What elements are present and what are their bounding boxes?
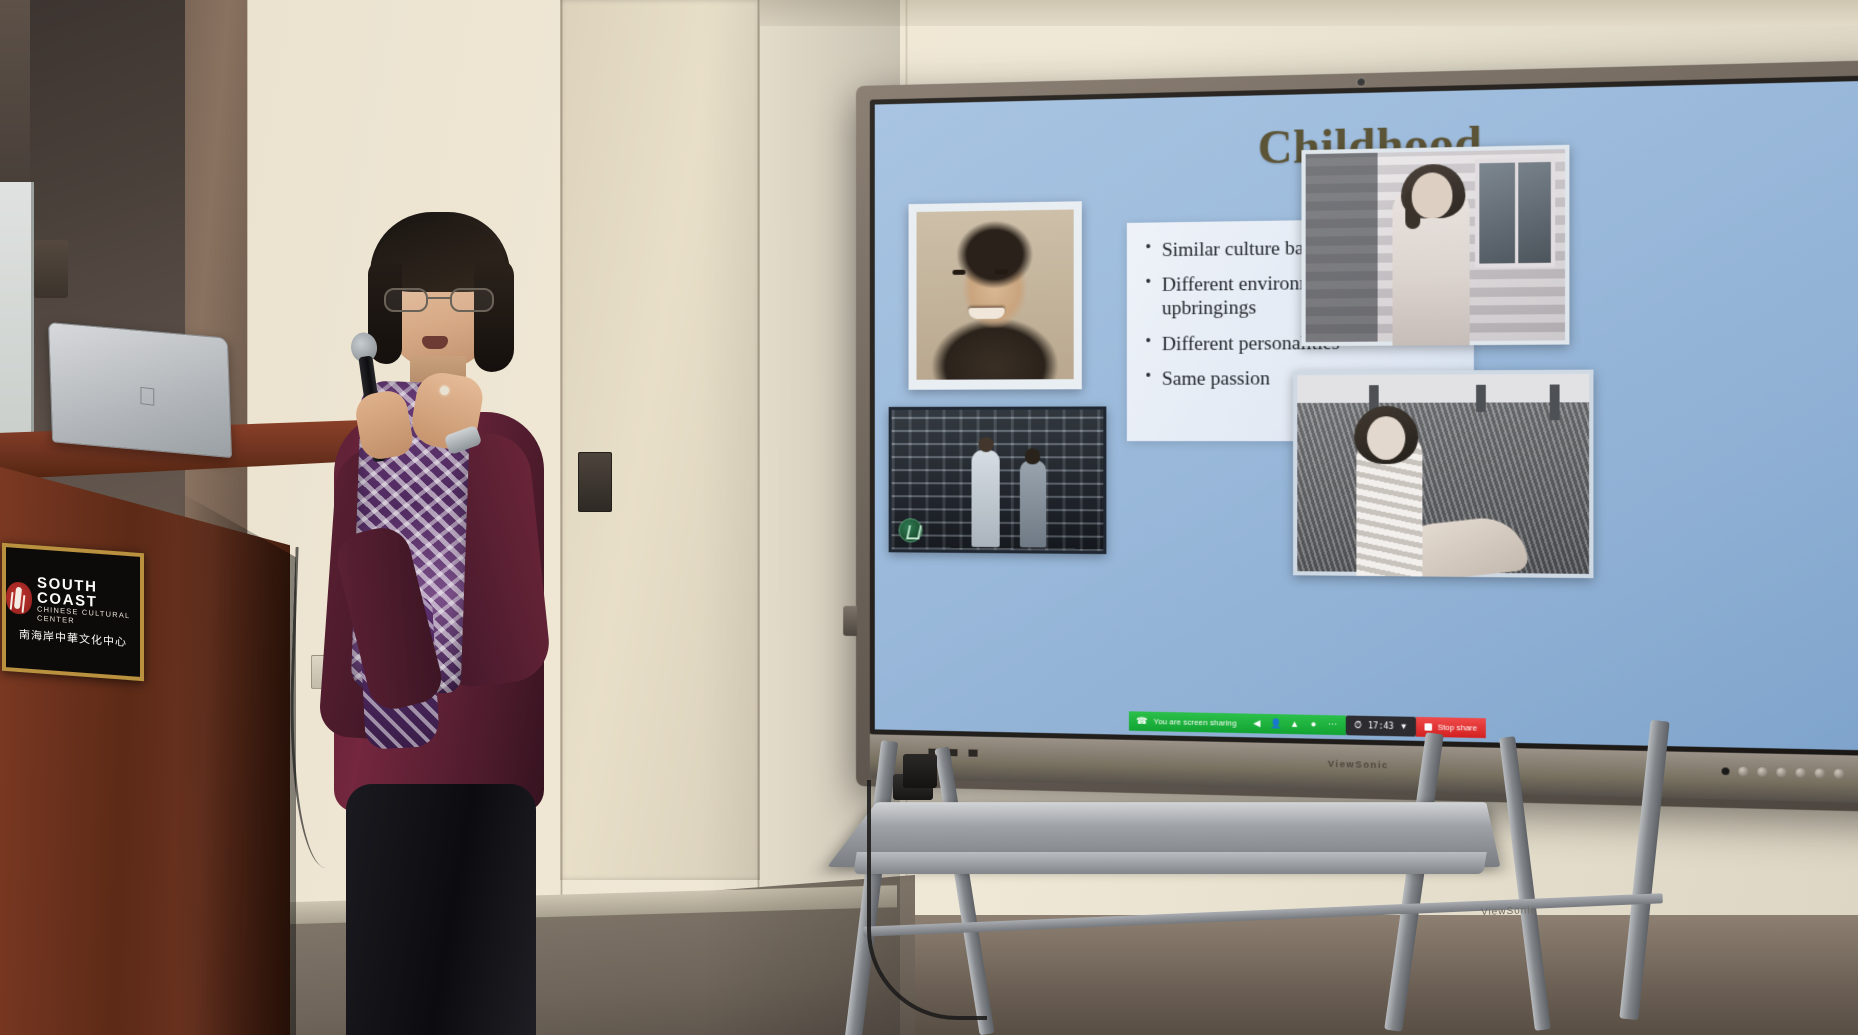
- plaque-org-chinese: 南海岸中華文化中心: [19, 626, 127, 650]
- bullet-icon: •: [1145, 238, 1151, 258]
- side-control-panel[interactable]: [843, 606, 857, 636]
- display-stand: ViewSonic: [845, 760, 1835, 1035]
- grocery-store-image: [892, 410, 1104, 551]
- bullet-text: Same passion: [1162, 368, 1270, 390]
- podium-shading: [176, 490, 296, 1035]
- stop-icon: [1425, 723, 1432, 730]
- lens-bridge: [428, 297, 450, 299]
- presentation-room-scene: SOUTH COAST CHINESE CULTURAL CENTER 南海岸中…: [0, 0, 1858, 1035]
- power-cable: [867, 780, 987, 1020]
- audio-icon[interactable]: ◀: [1251, 718, 1263, 730]
- girl-by-house-photo: [1301, 145, 1569, 346]
- stop-share-label: Stop share: [1438, 723, 1477, 733]
- fabric-wall-panel: [560, 0, 760, 880]
- fence-post: [1550, 385, 1560, 421]
- stand-leg: [1384, 732, 1444, 1032]
- wall-jack-plate: [578, 452, 612, 512]
- wall-panel-seam: [757, 0, 760, 1035]
- zoom-controls-group[interactable]: ◀ 👤 ▲ ● ⋯: [1244, 714, 1346, 736]
- timer-value: 17:43: [1368, 721, 1394, 731]
- record-icon[interactable]: ●: [1308, 719, 1320, 731]
- presenter-trousers: [346, 784, 536, 1035]
- girl-on-grass-image: [1297, 374, 1589, 574]
- door-handle: [34, 240, 68, 298]
- boy-smile: [969, 308, 1005, 319]
- girl-head: [1412, 172, 1453, 219]
- boy-eye-left: [952, 270, 965, 275]
- lens-right: [450, 288, 494, 312]
- presenter-hair-right: [474, 258, 514, 372]
- chevron-down-icon[interactable]: ▾: [1398, 721, 1410, 733]
- presenter: [318, 198, 548, 1035]
- apple-logo-icon: : [138, 384, 158, 410]
- boy-portrait-image: [917, 210, 1074, 380]
- share-timer[interactable]: ⏱ 17:43 ▾: [1346, 716, 1416, 737]
- whiteboard: [0, 182, 34, 452]
- bullet-icon: •: [1145, 273, 1151, 293]
- stand-leg: [1499, 736, 1551, 1031]
- south-coast-ccc-logo-icon: [6, 581, 32, 615]
- bullet-icon: •: [1145, 331, 1151, 351]
- clock-icon: ⏱: [1352, 720, 1364, 732]
- eyeglasses-icon: [384, 288, 496, 312]
- wall-power-plug: [903, 754, 937, 788]
- photo-watermark-icon: [899, 518, 923, 542]
- share-icon[interactable]: ▲: [1289, 719, 1301, 731]
- display-bezel: Childhood: [870, 75, 1858, 757]
- lens-left: [384, 288, 428, 312]
- wall-panel-seam: [560, 0, 563, 1035]
- podium-plaque: SOUTH COAST CHINESE CULTURAL CENTER 南海岸中…: [2, 543, 144, 681]
- presenter-mouth: [422, 336, 448, 349]
- boy-portrait-photo: [909, 201, 1082, 390]
- interactive-display[interactable]: Childhood: [856, 59, 1858, 813]
- phone-icon: ☎: [1136, 716, 1147, 727]
- hdmi-port[interactable]: [968, 748, 979, 757]
- house-window: [1475, 158, 1555, 268]
- store-woman-figure: [1020, 460, 1046, 547]
- laptop[interactable]: : [50, 330, 230, 450]
- bullet-icon: •: [1145, 366, 1151, 386]
- display-screen[interactable]: Childhood: [875, 80, 1858, 751]
- participants-icon[interactable]: 👤: [1270, 718, 1282, 730]
- grocery-store-photo: [889, 406, 1107, 554]
- stand-brand-label: ViewSonic: [1481, 905, 1537, 918]
- sharing-status-label: You are screen sharing: [1154, 717, 1237, 728]
- camera-dot-icon: [1357, 78, 1364, 85]
- girl-head: [1367, 416, 1405, 460]
- screen-sharing-status: ☎ You are screen sharing: [1129, 711, 1244, 733]
- girl-by-house-image: [1306, 149, 1565, 342]
- more-icon[interactable]: ⋯: [1327, 719, 1339, 731]
- finger-ring: [440, 386, 449, 395]
- stand-leg: [1619, 720, 1669, 1020]
- store-man-figure: [972, 450, 1000, 547]
- girl-on-grass-photo: [1293, 370, 1593, 579]
- fence-post: [1476, 385, 1486, 412]
- home-button[interactable]: [1834, 769, 1844, 779]
- boy-eye-right: [995, 269, 1008, 274]
